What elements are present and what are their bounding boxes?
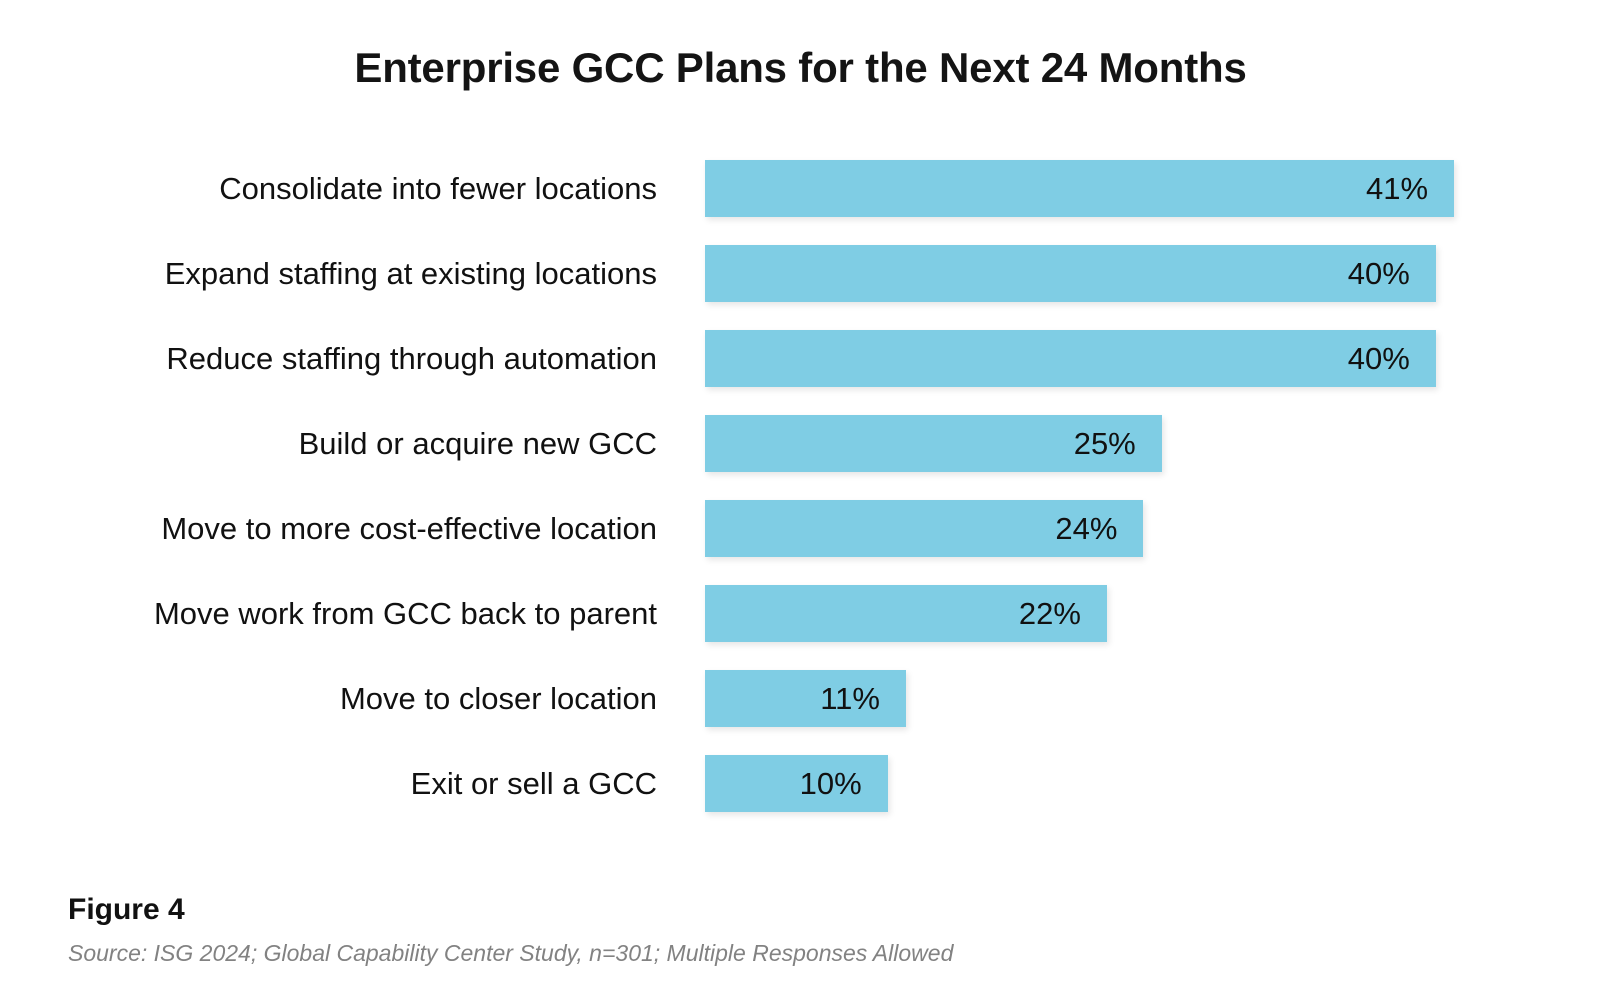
bar-value-label: 40% bbox=[1348, 245, 1410, 302]
bar[interactable] bbox=[705, 330, 1436, 387]
bar-row: Move to more cost-effective location24% bbox=[0, 500, 1601, 557]
bar-track: 40% bbox=[705, 330, 1436, 387]
bar-row: Reduce staffing through automation40% bbox=[0, 330, 1601, 387]
bar[interactable] bbox=[705, 160, 1454, 217]
plot-area: Consolidate into fewer locations41%Expan… bbox=[0, 160, 1601, 850]
category-label: Consolidate into fewer locations bbox=[60, 160, 657, 217]
bar-value-label: 22% bbox=[1019, 585, 1081, 642]
chart-figure: Enterprise GCC Plans for the Next 24 Mon… bbox=[0, 0, 1601, 1001]
bar-value-label: 40% bbox=[1348, 330, 1410, 387]
category-label: Exit or sell a GCC bbox=[60, 755, 657, 812]
bar-track: 11% bbox=[705, 670, 906, 727]
bar-track: 24% bbox=[705, 500, 1143, 557]
bar-value-label: 24% bbox=[1055, 500, 1117, 557]
bar-row: Expand staffing at existing locations40% bbox=[0, 245, 1601, 302]
bar-value-label: 41% bbox=[1366, 160, 1428, 217]
bar-value-label: 10% bbox=[800, 755, 862, 812]
figure-number-label: Figure 4 bbox=[68, 893, 185, 927]
category-label: Build or acquire new GCC bbox=[60, 415, 657, 472]
bar-track: 41% bbox=[705, 160, 1454, 217]
bar-row: Exit or sell a GCC10% bbox=[0, 755, 1601, 812]
bar-value-label: 11% bbox=[820, 670, 880, 727]
bar-row: Build or acquire new GCC25% bbox=[0, 415, 1601, 472]
chart-title: Enterprise GCC Plans for the Next 24 Mon… bbox=[0, 44, 1601, 92]
bar-row: Consolidate into fewer locations41% bbox=[0, 160, 1601, 217]
bar[interactable] bbox=[705, 245, 1436, 302]
category-label: Move to closer location bbox=[60, 670, 657, 727]
bar-track: 25% bbox=[705, 415, 1162, 472]
bar-track: 10% bbox=[705, 755, 888, 812]
category-label: Expand staffing at existing locations bbox=[60, 245, 657, 302]
category-label: Move to more cost-effective location bbox=[60, 500, 657, 557]
bar-row: Move work from GCC back to parent22% bbox=[0, 585, 1601, 642]
bar-track: 40% bbox=[705, 245, 1436, 302]
source-note: Source: ISG 2024; Global Capability Cent… bbox=[68, 940, 953, 967]
bar-track: 22% bbox=[705, 585, 1107, 642]
category-label: Move work from GCC back to parent bbox=[60, 585, 657, 642]
category-label: Reduce staffing through automation bbox=[60, 330, 657, 387]
bar-value-label: 25% bbox=[1074, 415, 1136, 472]
bar-row: Move to closer location11% bbox=[0, 670, 1601, 727]
